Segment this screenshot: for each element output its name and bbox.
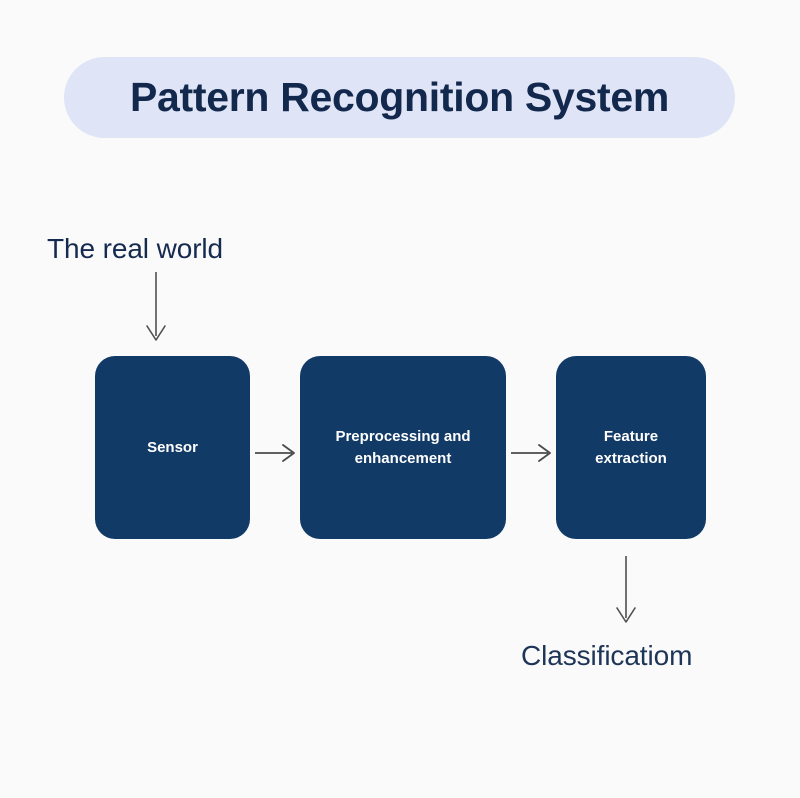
title-banner: Pattern Recognition System: [64, 57, 735, 138]
arrow-down-input-to-sensor: [130, 270, 182, 348]
page-title: Pattern Recognition System: [130, 77, 669, 118]
input-label-the-real-world: The real world: [47, 233, 223, 265]
arrow-right-sensor-to-preprocessing: [250, 432, 300, 474]
node-preprocessing-and-enhancement: Preprocessing and enhancement: [300, 356, 506, 539]
node-preprocessing-label: Preprocessing and enhancement: [335, 426, 470, 470]
arrow-down-feature-extraction-to-classification: [600, 554, 652, 632]
diagram-canvas: Pattern Recognition System The real worl…: [0, 0, 800, 798]
node-sensor: Sensor: [95, 356, 250, 539]
node-feature-extraction-label: Feature extraction: [595, 426, 667, 470]
arrow-right-preprocessing-to-feature-extraction: [506, 432, 556, 474]
node-sensor-label: Sensor: [147, 437, 198, 459]
output-label-classification: Classificatiom: [521, 640, 692, 672]
node-feature-extraction: Feature extraction: [556, 356, 706, 539]
